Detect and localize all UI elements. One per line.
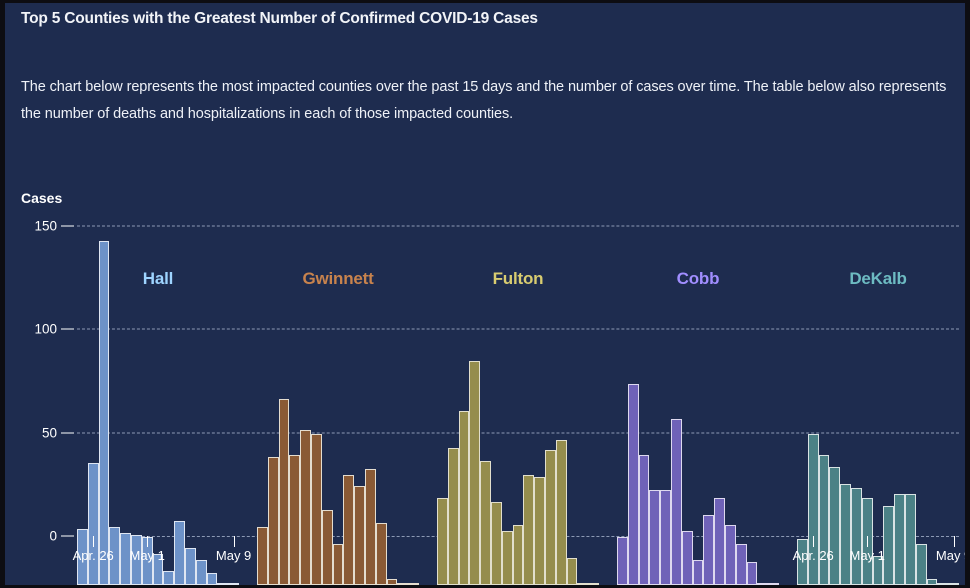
bar[interactable] [469, 361, 480, 585]
bar[interactable] [354, 486, 365, 585]
bar[interactable] [682, 531, 693, 585]
bar-series-dekalb [797, 202, 959, 585]
county-panel-dekalb: DeKalbApr. 26May 1May 9 [797, 153, 959, 585]
bar-series-gwinnett [257, 202, 419, 585]
page-description: The chart below represents the most impa… [21, 74, 951, 128]
bar[interactable] [448, 448, 459, 585]
bar[interactable] [905, 494, 916, 585]
bar[interactable] [376, 523, 387, 585]
bar[interactable] [523, 475, 534, 585]
y-axis-tick-mark [61, 536, 74, 537]
bar[interactable] [534, 477, 545, 585]
x-axis-tick-mark [147, 536, 148, 547]
bar-series-hall [77, 202, 239, 585]
x-axis-tick-label: May 9 [216, 548, 251, 563]
bar[interactable] [491, 502, 502, 585]
bar[interactable] [322, 510, 333, 585]
bar[interactable] [185, 548, 196, 585]
bar[interactable] [217, 583, 228, 585]
x-axis-tick-label: May 1 [849, 548, 884, 563]
bar[interactable] [545, 450, 556, 585]
bar[interactable] [829, 467, 840, 585]
bar[interactable] [437, 498, 448, 585]
bar[interactable] [556, 440, 567, 585]
bar[interactable] [725, 525, 736, 585]
bar[interactable] [671, 419, 682, 585]
bar[interactable] [365, 469, 376, 585]
x-axis-tick-label: May 9 [936, 548, 965, 563]
x-axis-tick-mark [867, 536, 868, 547]
bar-series-fulton [437, 202, 599, 585]
bar[interactable] [408, 583, 419, 585]
y-axis-tick-label: 150 [5, 218, 57, 233]
bar[interactable] [916, 544, 927, 585]
y-axis-tick-mark [61, 432, 74, 433]
bar[interactable] [279, 399, 290, 585]
bar[interactable] [649, 490, 660, 585]
x-axis-tick-mark [813, 536, 814, 547]
bar[interactable] [757, 583, 768, 585]
bar[interactable] [174, 521, 185, 585]
bar[interactable] [693, 560, 704, 585]
bar[interactable] [207, 573, 218, 585]
bar[interactable] [289, 455, 300, 585]
x-axis-tick-mark [93, 536, 94, 547]
bar[interactable] [588, 583, 599, 585]
bar[interactable] [639, 455, 650, 585]
x-axis-tick-mark [234, 536, 235, 547]
bar[interactable] [163, 571, 174, 585]
bar[interactable] [343, 475, 354, 585]
y-axis-tick-mark [61, 225, 74, 226]
y-axis-title: Cases [21, 190, 62, 206]
bar[interactable] [714, 498, 725, 585]
y-axis-tick-label: 0 [5, 529, 57, 544]
bar[interactable] [660, 490, 671, 585]
bar[interactable] [617, 537, 628, 585]
bar[interactable] [768, 583, 779, 585]
x-axis-tick-label: Apr. 26 [793, 548, 834, 563]
bar[interactable] [883, 506, 894, 585]
bar[interactable] [628, 384, 639, 585]
bar[interactable] [397, 583, 408, 585]
bar[interactable] [88, 463, 99, 585]
bar[interactable] [387, 579, 398, 585]
bar[interactable] [577, 583, 588, 585]
county-panel-gwinnett: Gwinnett [257, 153, 419, 585]
x-axis-tick-label: Apr. 26 [73, 548, 114, 563]
bar[interactable] [894, 494, 905, 585]
infographic-panel: Top 5 Counties with the Greatest Number … [5, 3, 965, 585]
bar[interactable] [502, 531, 513, 585]
bar[interactable] [840, 484, 851, 585]
bar[interactable] [927, 579, 938, 585]
bar[interactable] [480, 461, 491, 585]
bar[interactable] [196, 560, 207, 585]
bar[interactable] [228, 583, 239, 585]
county-panel-hall: HallApr. 26May 1May 9 [77, 153, 239, 585]
bar[interactable] [333, 544, 344, 585]
bar-series-cobb [617, 202, 779, 585]
bar[interactable] [99, 241, 110, 585]
x-axis-tick-label: May 1 [129, 548, 164, 563]
covid-cases-small-multiples-chart: Cases 050100150 HallApr. 26May 1May 9Gwi… [5, 153, 965, 585]
y-axis-tick-label: 50 [5, 425, 57, 440]
bar[interactable] [268, 457, 279, 585]
county-panel-fulton: Fulton [437, 153, 599, 585]
x-axis-tick-mark [954, 536, 955, 547]
bar[interactable] [948, 583, 959, 585]
bar[interactable] [513, 525, 524, 585]
county-panel-cobb: Cobb [617, 153, 779, 585]
bar[interactable] [311, 434, 322, 585]
page-title: Top 5 Counties with the Greatest Number … [21, 10, 538, 28]
bar[interactable] [567, 558, 578, 585]
bar[interactable] [459, 411, 470, 585]
bar[interactable] [300, 430, 311, 585]
y-axis-tick-mark [61, 329, 74, 330]
bar[interactable] [736, 544, 747, 585]
bar[interactable] [819, 455, 830, 585]
y-axis-tick-label: 100 [5, 322, 57, 337]
bar[interactable] [851, 488, 862, 585]
bar[interactable] [937, 583, 948, 585]
bar[interactable] [747, 562, 758, 585]
bar[interactable] [257, 527, 268, 585]
bar[interactable] [703, 515, 714, 585]
